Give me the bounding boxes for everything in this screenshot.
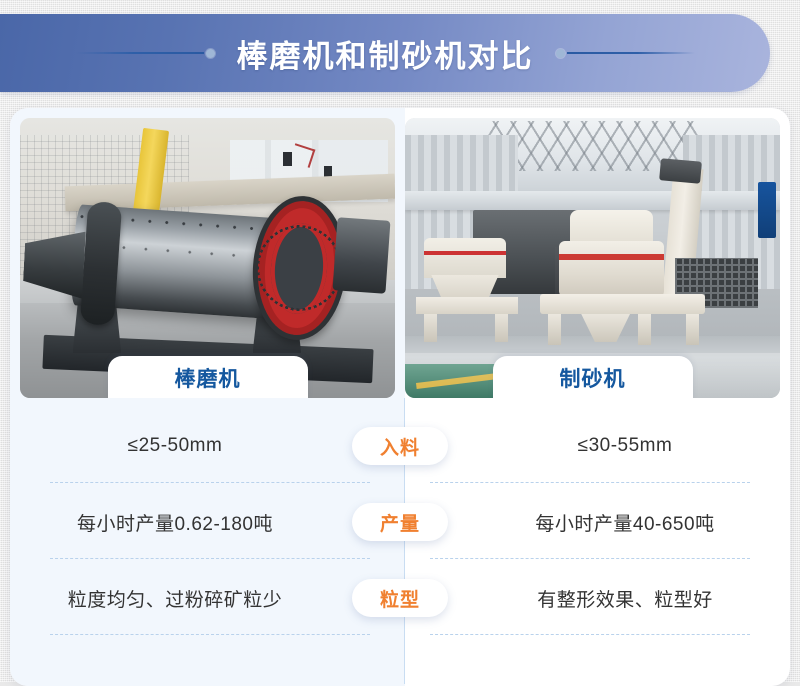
decoration-line-right xyxy=(567,52,695,54)
header-decoration-right xyxy=(556,49,695,58)
large-crusher-leg-3 xyxy=(686,314,699,345)
comparison-card: 棒磨机 xyxy=(10,108,790,686)
drive-motor xyxy=(333,217,390,293)
small-crusher-leg-1 xyxy=(424,314,437,342)
small-crusher-top xyxy=(424,238,507,277)
row-separator-left-3 xyxy=(50,634,370,636)
table-row: ≤25-50mm 入料 ≤30-55mm xyxy=(10,408,790,484)
decoration-dot-right xyxy=(556,49,565,58)
row-feed-right-value: ≤30-55mm xyxy=(400,435,790,457)
rod-mill-photo[interactable]: 棒磨机 xyxy=(20,118,395,398)
blue-banner-sign xyxy=(758,182,777,238)
large-crusher-base xyxy=(540,294,705,314)
page-header-banner: 棒磨机和制砂机对比 xyxy=(0,14,770,92)
sand-maker-photo[interactable]: 制砂机 xyxy=(405,118,780,398)
rod-mill-name-tab: 棒磨机 xyxy=(108,356,308,398)
rod-mill-name: 棒磨机 xyxy=(175,363,241,393)
row-capacity-badge: 产量 xyxy=(352,503,448,541)
small-crusher-base xyxy=(416,297,517,314)
large-crusher-leg-2 xyxy=(638,314,651,345)
row-shape-right-value: 有整形效果、粒型好 xyxy=(400,585,790,612)
row-shape-left-value: 粒度均匀、过粉碎矿粒少 xyxy=(10,585,400,612)
large-crusher-red-band xyxy=(559,254,664,260)
workshop-beam xyxy=(405,191,780,211)
decoration-line-left xyxy=(76,52,204,54)
small-crusher-red-band xyxy=(424,251,507,255)
table-row: 粒度均匀、过粉碎矿粒少 粒型 有整形效果、粒型好 xyxy=(10,560,790,636)
decoration-dot-left xyxy=(206,49,215,58)
row-capacity-badge-label: 产量 xyxy=(380,509,420,536)
elevator-head xyxy=(659,158,702,184)
table-row: 每小时产量0.62-180吨 产量 每小时产量40-650吨 xyxy=(10,484,790,560)
header-decoration-left xyxy=(76,49,215,58)
large-crusher-body xyxy=(559,241,664,297)
page-title: 棒磨机和制砂机对比 xyxy=(237,31,534,76)
sand-maker-name-tab: 制砂机 xyxy=(493,356,693,398)
row-feed-left-value: ≤25-50mm xyxy=(10,435,400,457)
row-shape-badge: 粒型 xyxy=(352,579,448,617)
sand-maker-name: 制砂机 xyxy=(560,363,626,393)
large-crusher-leg-1 xyxy=(548,314,561,345)
small-crusher-leg-2 xyxy=(495,314,508,342)
row-separator-right-3 xyxy=(430,634,750,636)
row-capacity-left-value: 每小时产量0.62-180吨 xyxy=(10,509,400,536)
row-shape-badge-label: 粒型 xyxy=(380,585,420,612)
photo-row: 棒磨机 xyxy=(10,108,790,408)
row-capacity-right-value: 每小时产量40-650吨 xyxy=(400,509,790,536)
row-feed-badge-label: 入料 xyxy=(380,433,420,460)
comparison-table: ≤25-50mm 入料 ≤30-55mm 每小时产量0.62-180吨 产量 每… xyxy=(10,408,790,686)
row-feed-badge: 入料 xyxy=(352,427,448,465)
